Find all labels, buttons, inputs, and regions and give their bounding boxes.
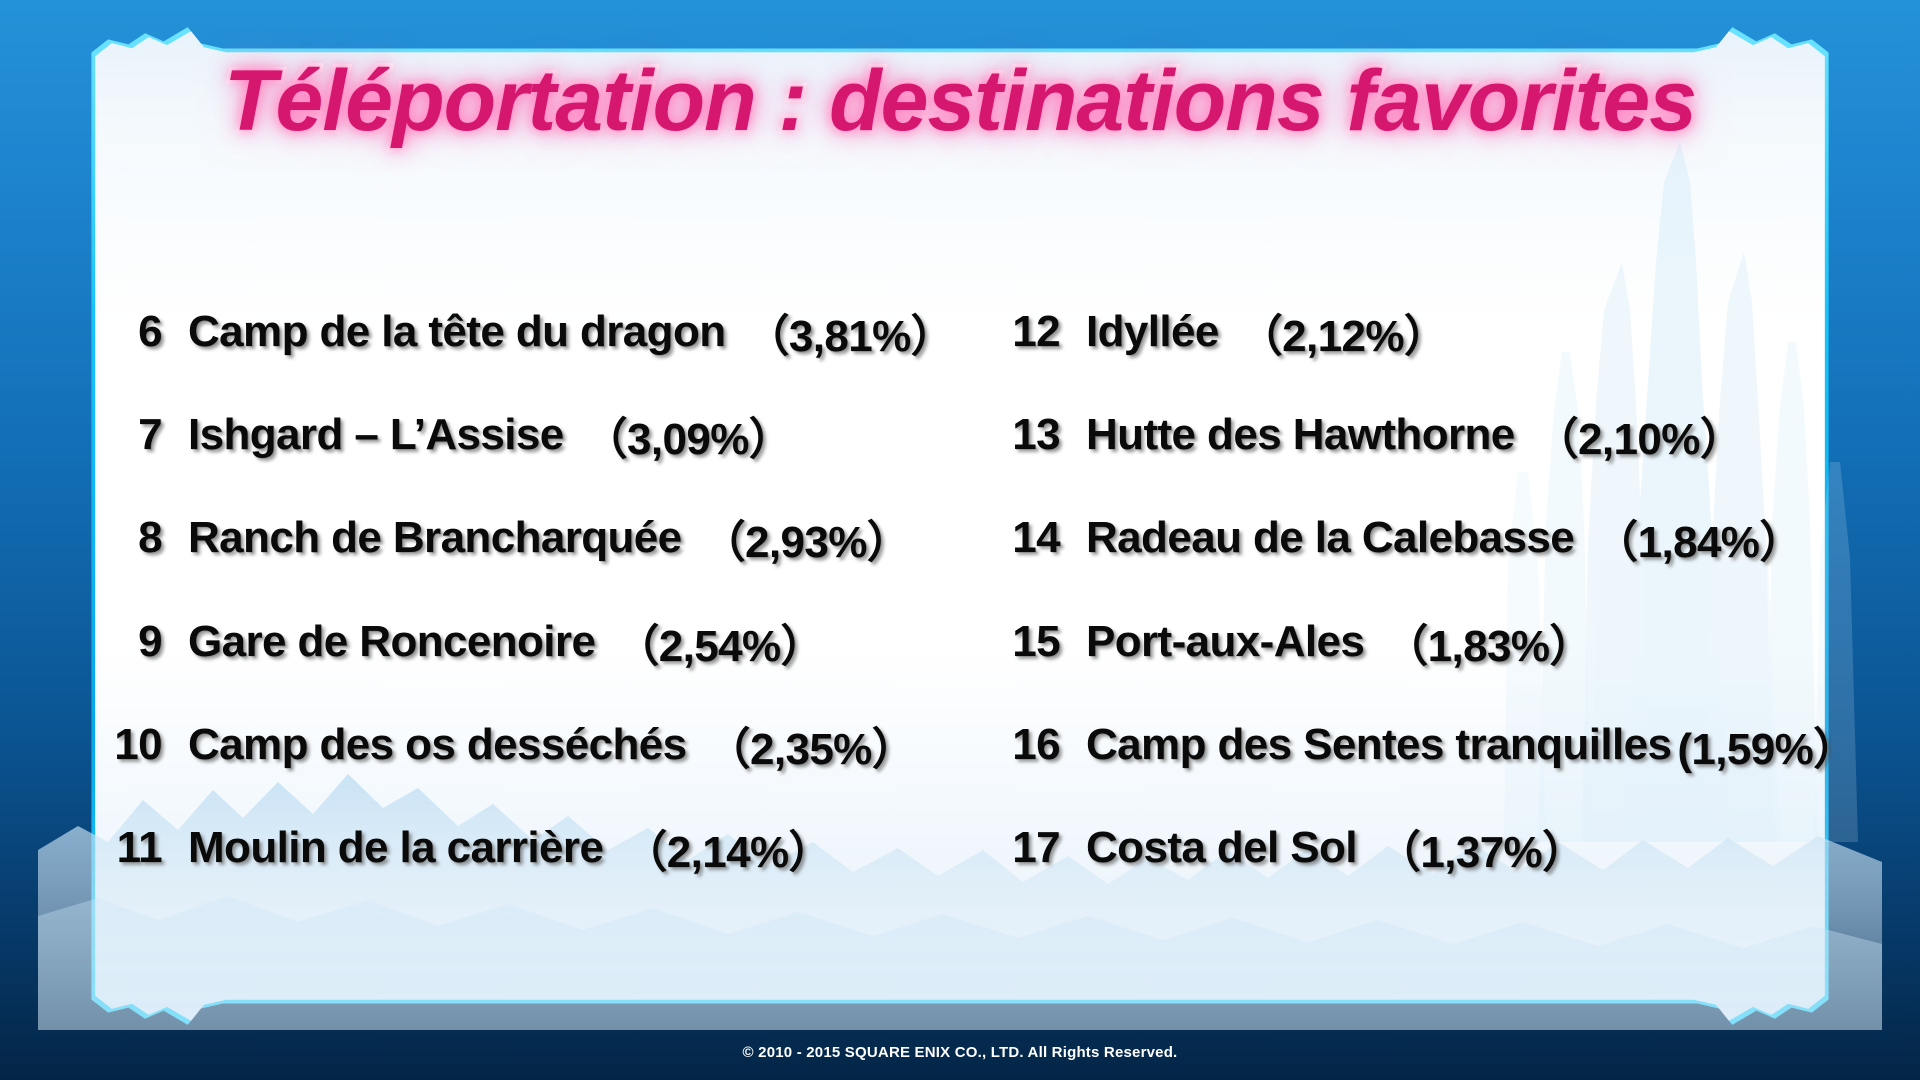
rank-number: 16 [998,720,1060,770]
percentage-value: （1,84%） [1594,506,1803,570]
list-item: 13 Hutte des Hawthorne （2,10%） [998,383,1860,486]
rank-number: 14 [998,513,1060,563]
list-item: 14 Radeau de la Calebasse （1,84%） [998,487,1860,590]
percentage-value: （2,10%） [1535,403,1744,467]
list-item: 17 Costa del Sol （1,37%） [998,797,1860,900]
rank-number: 6 [100,307,162,357]
destination-label: Radeau de la Calebasse [1086,513,1574,563]
percentage-value: （2,35%） [707,713,916,777]
rank-number: 15 [998,617,1060,667]
rank-number: 9 [100,617,162,667]
destination-label: Gare de Roncenoire [188,617,595,667]
destination-column-right: 12 Idyllée （2,12%） 13 Hutte des Hawthorn… [962,280,1860,900]
copyright-text: © 2010 - 2015 SQUARE ENIX CO., LTD. All … [743,1044,1178,1061]
list-item: 10 Camp des os desséchés （2,35%） [100,693,962,796]
destination-label: Ishgard – L’Assise [188,410,564,460]
list-item: 16 Camp des Sentes tranquilles (1,59%） [998,693,1860,796]
list-item: 9 Gare de Roncenoire （2,54%） [100,590,962,693]
rank-number: 8 [100,513,162,563]
destination-column-left: 6 Camp de la tête du dragon （3,81%） 7 Is… [70,280,962,900]
destination-label: Idyllée [1086,307,1219,357]
list-item: 6 Camp de la tête du dragon （3,81%） [100,280,962,383]
percentage-value: （1,37%） [1377,816,1586,880]
slide-root: Téléportation : destinations favorites 6… [0,0,1920,1080]
destination-label: Port-aux-Ales [1086,617,1364,667]
destination-label: Hutte des Hawthorne [1086,410,1515,460]
percentage-value: （2,54%） [615,610,824,674]
list-item: 8 Ranch de Brancharquée （2,93%） [100,487,962,590]
destination-label: Moulin de la carrière [188,823,603,873]
percentage-value: （2,12%） [1239,300,1448,364]
list-item: 12 Idyllée （2,12%） [998,280,1860,383]
percentage-value: （2,14%） [623,816,832,880]
destination-label: Camp de la tête du dragon [188,307,726,357]
destination-label: Costa del Sol [1086,823,1357,873]
page-title: Téléportation : destinations favorites [0,52,1920,151]
rank-number: 17 [998,823,1060,873]
percentage-value: (1,59%） [1677,713,1856,777]
rank-number: 11 [100,823,162,873]
destination-label: Ranch de Brancharquée [188,513,682,563]
percentage-value: （3,81%） [746,300,955,364]
rank-number: 10 [100,720,162,770]
percentage-value: （1,83%） [1384,610,1593,674]
copyright-footer: © 2010 - 2015 SQUARE ENIX CO., LTD. All … [0,1024,1920,1080]
percentage-value: （3,09%） [584,403,793,467]
rank-number: 12 [998,307,1060,357]
rank-number: 7 [100,410,162,460]
list-item: 7 Ishgard – L’Assise （3,09%） [100,383,962,486]
percentage-value: （2,93%） [702,506,911,570]
list-item: 15 Port-aux-Ales （1,83%） [998,590,1860,693]
rank-number: 13 [998,410,1060,460]
list-item: 11 Moulin de la carrière （2,14%） [100,797,962,900]
destination-list: 6 Camp de la tête du dragon （3,81%） 7 Is… [70,280,1860,900]
destination-label: Camp des os desséchés [188,720,687,770]
destination-label: Camp des Sentes tranquilles [1086,720,1671,770]
